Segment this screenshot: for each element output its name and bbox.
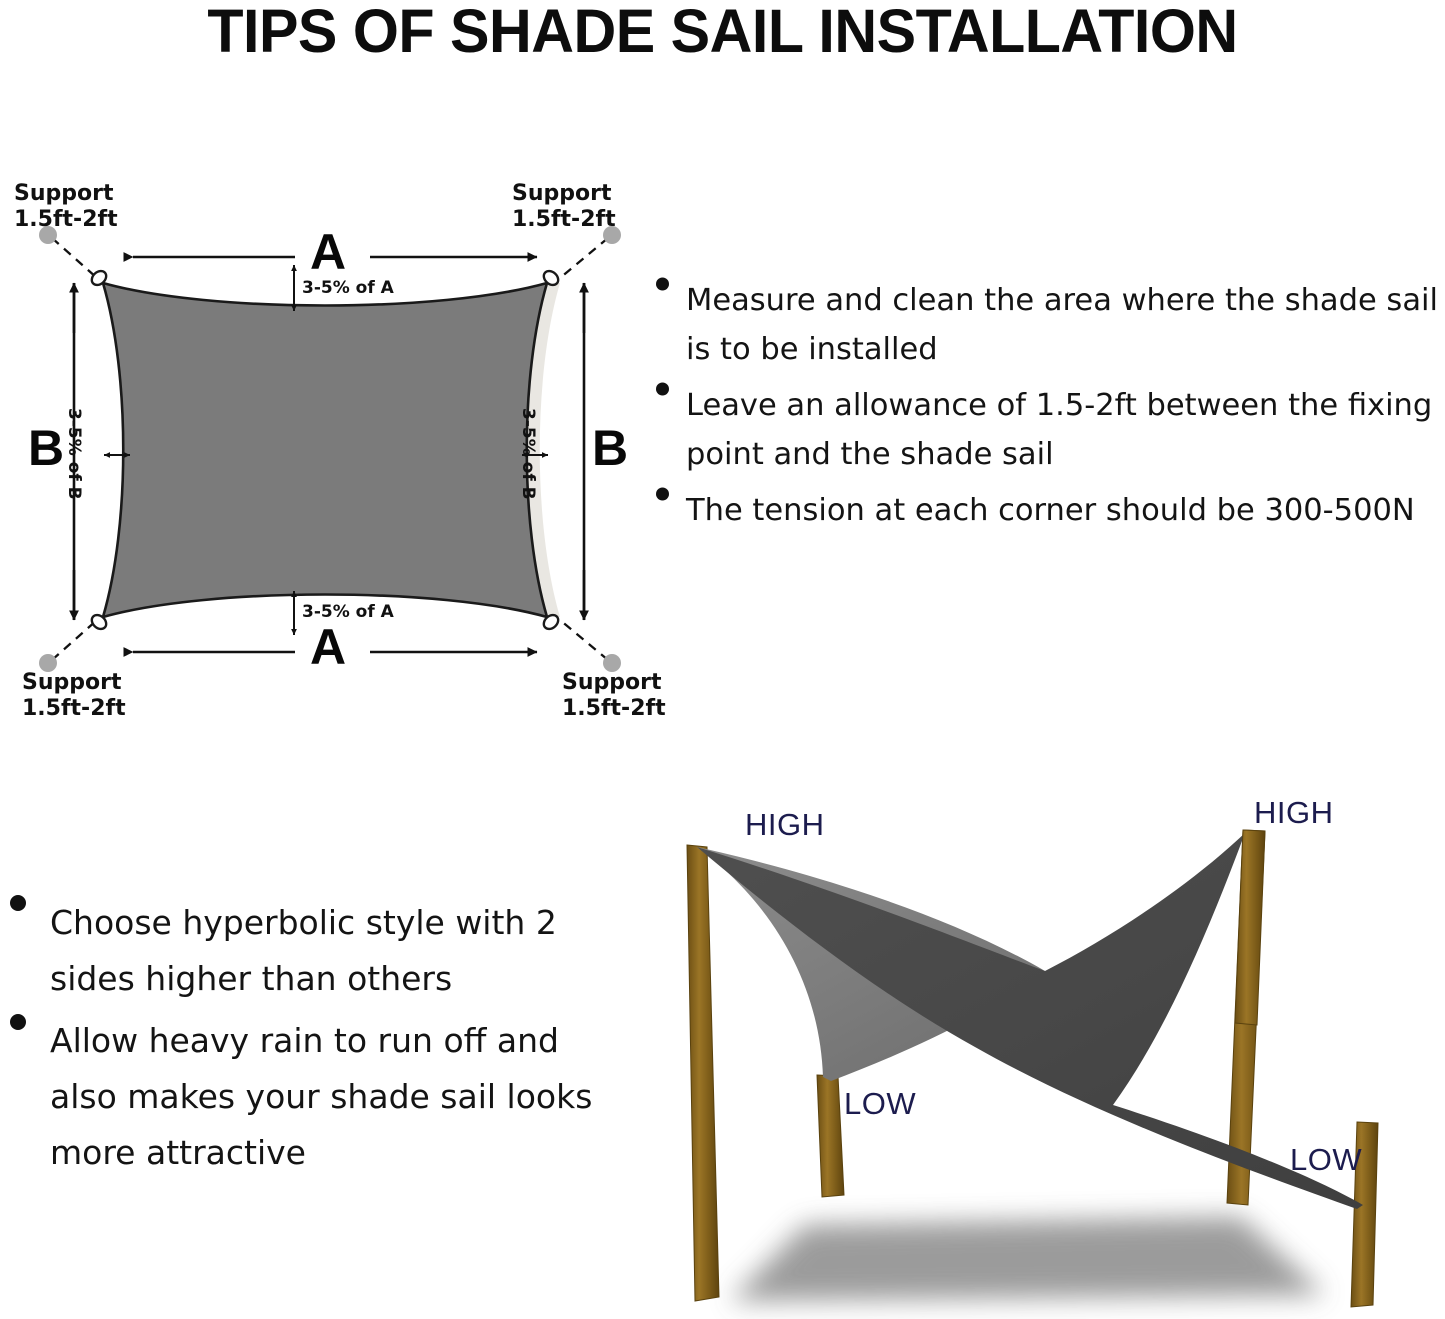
- tether-bottom-left: [52, 620, 97, 660]
- tip-text: The tension at each corner should be 300…: [686, 486, 1445, 535]
- list-item: Choose hyperbolic style with 2 sides hig…: [0, 895, 625, 1007]
- sail-panel-dark: [697, 833, 1363, 1209]
- sail-body: [103, 283, 547, 617]
- curve-label-right: 3-5% of B: [518, 408, 538, 500]
- bullet-dot-icon: [656, 487, 669, 500]
- support-label-line2: 1.5ft-2ft: [22, 696, 126, 721]
- list-item: Leave an allowance of 1.5-2ft between th…: [648, 381, 1445, 480]
- support-label-line2: 1.5ft-2ft: [512, 207, 616, 232]
- bullet-dot-icon: [656, 278, 669, 291]
- label-high-right: HIGH: [1254, 795, 1334, 831]
- label-high-left: HIGH: [745, 807, 825, 843]
- dimension-letter-b-right: B: [592, 423, 628, 473]
- bullet-dot-icon: [656, 383, 669, 396]
- rect-sail-diagram: Support 1.5ft-2ft Support 1.5ft-2ft Supp…: [0, 165, 660, 735]
- infographic-page: TIPS OF SHADE SAIL INSTALLATION: [0, 0, 1445, 1319]
- list-item: The tension at each corner should be 300…: [648, 486, 1445, 535]
- support-label-line1: Support: [512, 181, 611, 206]
- style-tips-list: Choose hyperbolic style with 2 sides hig…: [0, 895, 625, 1187]
- support-label-top-left: Support 1.5ft-2ft: [14, 181, 118, 233]
- bullet-dot-icon: [10, 1014, 26, 1030]
- support-label-top-right: Support 1.5ft-2ft: [512, 181, 616, 233]
- support-label-line1: Support: [14, 181, 113, 206]
- tip-text: Leave an allowance of 1.5-2ft between th…: [686, 381, 1445, 480]
- installation-tips-list: Measure and clean the area where the sha…: [648, 276, 1445, 541]
- tether-bottom-right: [560, 620, 608, 660]
- post-high-left: [687, 845, 719, 1301]
- dimension-letter-b-left: B: [28, 423, 64, 473]
- post-low-left: [817, 1075, 844, 1197]
- tether-top-right: [560, 238, 608, 278]
- post-high-right-front: [1235, 830, 1265, 1025]
- curve-label-top: 3-5% of A: [302, 278, 394, 298]
- support-label-line2: 1.5ft-2ft: [562, 696, 666, 721]
- label-low-right: LOW: [1290, 1142, 1362, 1178]
- curve-label-left: 3-5% of B: [64, 408, 84, 500]
- dimension-letter-a-bottom: A: [310, 622, 346, 672]
- page-title: TIPS OF SHADE SAIL INSTALLATION: [22, 0, 1424, 66]
- list-item: Allow heavy rain to run off and also mak…: [0, 1013, 625, 1181]
- hyperbolic-sail-diagram: HIGH HIGH LOW LOW: [645, 785, 1445, 1319]
- ground-shadow: [730, 1217, 1325, 1301]
- tether-top-left: [52, 238, 97, 278]
- style-tip-text: Allow heavy rain to run off and also mak…: [50, 1013, 625, 1181]
- support-label-bottom-right: Support 1.5ft-2ft: [562, 670, 666, 722]
- label-low-left: LOW: [844, 1086, 916, 1122]
- curve-label-bottom: 3-5% of A: [302, 602, 394, 622]
- tip-text: Measure and clean the area where the sha…: [686, 276, 1445, 375]
- support-label-line1: Support: [22, 670, 121, 695]
- dimension-letter-a-top: A: [310, 227, 346, 277]
- support-label-line2: 1.5ft-2ft: [14, 207, 118, 232]
- list-item: Measure and clean the area where the sha…: [648, 276, 1445, 375]
- support-label-bottom-left: Support 1.5ft-2ft: [22, 670, 126, 722]
- style-tip-text: Choose hyperbolic style with 2 sides hig…: [50, 895, 625, 1007]
- bullet-dot-icon: [10, 895, 26, 911]
- support-label-line1: Support: [562, 670, 661, 695]
